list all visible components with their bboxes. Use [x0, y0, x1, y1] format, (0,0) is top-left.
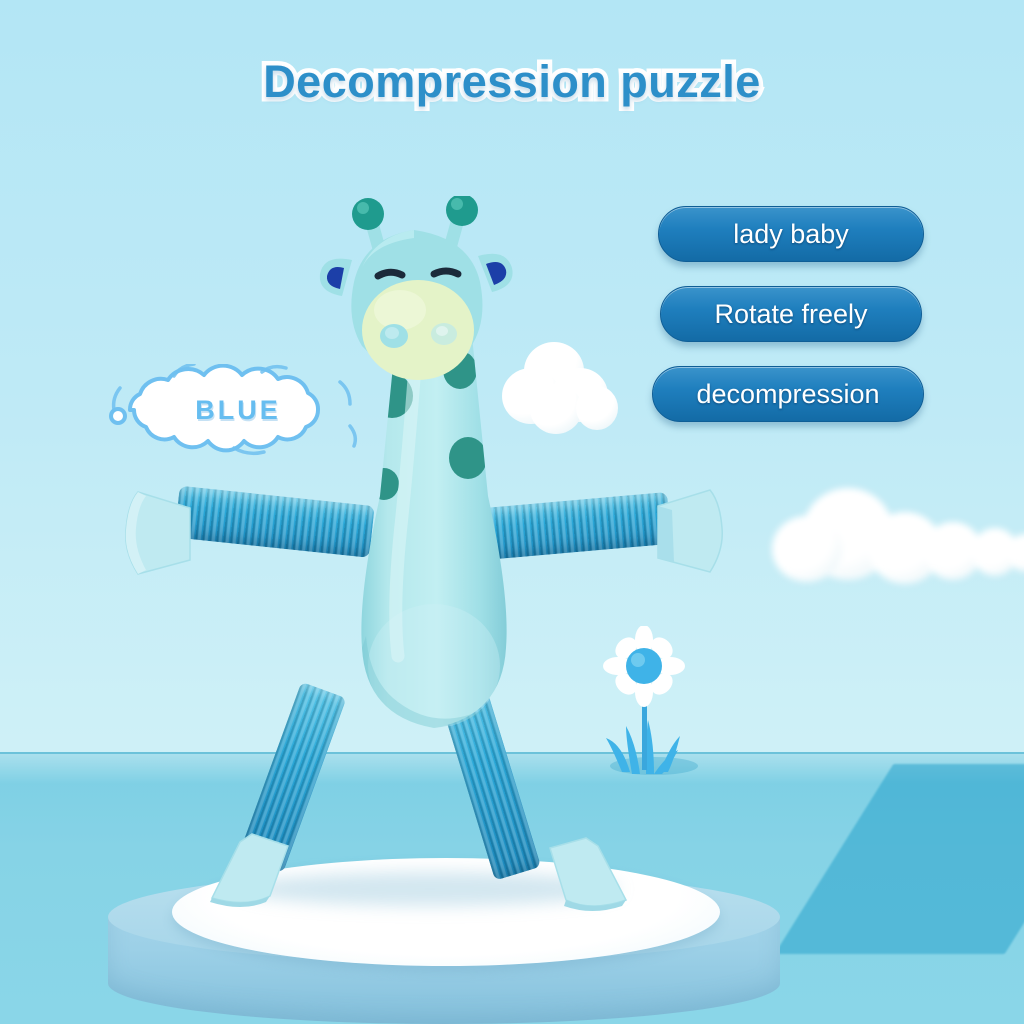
left-foot-suction-cup[interactable] — [196, 832, 316, 910]
giraffe-body[interactable] — [318, 196, 550, 736]
right-eye — [434, 271, 458, 274]
product-banner: Decompression puzzle — [0, 0, 1024, 1024]
giraffe-head — [320, 196, 513, 380]
left-horn-tip — [352, 198, 384, 230]
right-hand-suction-cup[interactable] — [650, 482, 732, 578]
left-eye — [378, 272, 402, 276]
right-foot-suction-cup[interactable] — [520, 836, 642, 914]
giraffe-toy[interactable] — [0, 0, 1024, 1024]
muzzle — [362, 280, 474, 380]
left-hand-suction-cup[interactable] — [116, 486, 196, 582]
